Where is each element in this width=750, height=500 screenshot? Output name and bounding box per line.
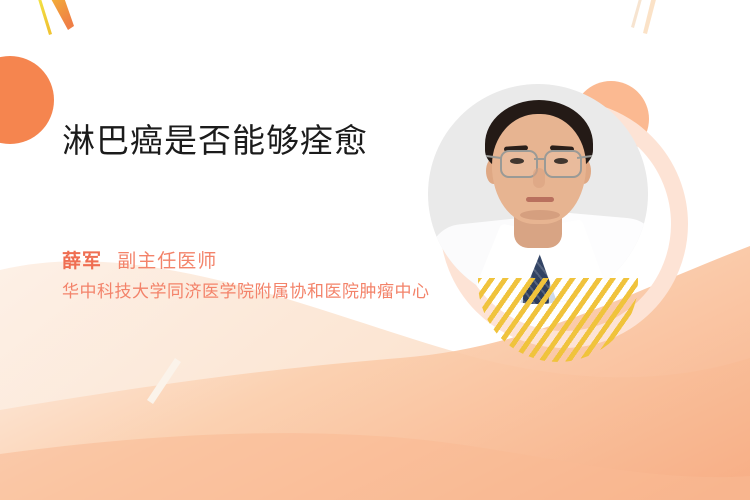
doctor-info-block: 薛军 副主任医师 华中科技大学同济医学院附属协和医院肿瘤中心	[62, 248, 462, 304]
diagonal-stripe-top-right-decoration	[614, 0, 694, 68]
mouth-shape	[526, 197, 554, 202]
chin-shadow-shape	[520, 210, 560, 220]
video-cover-poster: 淋巴癌是否能够痊愈 薛军 副主任医师 华中科技大学同济医学院附属协和医院肿瘤中心	[0, 0, 750, 500]
portrait-cluster	[418, 78, 708, 368]
eyeglasses-bridge	[534, 158, 544, 160]
diagonal-stripe-top-left-decoration	[22, 0, 102, 66]
doctor-name-row: 薛军 副主任医师	[62, 248, 462, 275]
doctor-affiliation: 华中科技大学同济医学院附属协和医院肿瘤中心	[62, 280, 454, 304]
eyeglasses-lens-right	[544, 150, 582, 178]
page-title: 淋巴癌是否能够痊愈	[62, 120, 412, 161]
doctor-rank: 副主任医师	[117, 251, 217, 272]
orange-circle-decoration	[0, 56, 54, 144]
diagonal-slash-faint-decoration	[135, 356, 195, 408]
nose-shape	[533, 168, 545, 188]
doctor-name: 薛军	[62, 251, 102, 272]
